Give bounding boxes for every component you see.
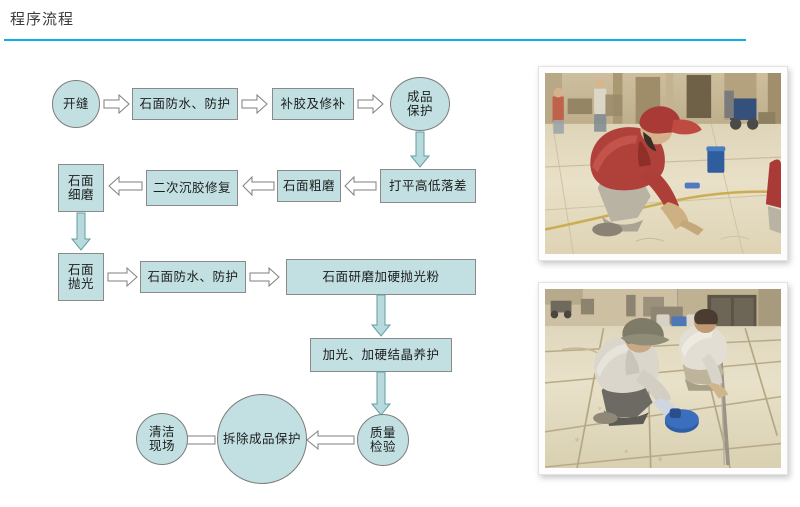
- flow-node-label: 石面防水、防护: [139, 97, 230, 111]
- flow-arrow-right-1: [104, 94, 130, 114]
- flow-node-label: 成品 保护: [407, 90, 433, 118]
- flow-arrow-left-2: [242, 176, 274, 196]
- flow-node-label: 清洁 现场: [149, 425, 175, 453]
- flow-arrow-left-1: [344, 176, 376, 196]
- flow-node-crystallization-curing[interactable]: 加光、加硬结晶养护: [310, 338, 452, 372]
- flow-arrow-down-1: [410, 132, 430, 168]
- flow-node-label: 石面 抛光: [68, 263, 94, 291]
- photo-bottom-image: [545, 289, 781, 468]
- flow-node-label: 加光、加硬结晶养护: [322, 348, 439, 362]
- flow-node-label: 二次沉胶修复: [153, 181, 231, 195]
- flow-node-stone-waterproof-1[interactable]: 石面防水、防护: [132, 88, 238, 120]
- flow-node-coarse-grind[interactable]: 石面粗磨: [277, 170, 341, 202]
- flow-node-finished-protection[interactable]: 成品 保护: [390, 77, 450, 131]
- flow-node-label: 拆除成品保护: [223, 432, 301, 446]
- flow-arrow-right-2: [242, 94, 268, 114]
- flow-node-secondary-glue-repair[interactable]: 二次沉胶修复: [146, 170, 238, 206]
- flow-node-label: 石面研磨加硬抛光粉: [322, 270, 439, 284]
- process-flow-diagram: 开缝 石面防水、防护 补胶及修补 成品 保护 打平高低落差: [0, 46, 520, 507]
- flow-arrow-down-2: [71, 213, 91, 251]
- flow-node-fine-grind[interactable]: 石面 细磨: [58, 164, 104, 212]
- flow-node-label: 质量 检验: [370, 426, 396, 454]
- title-underline-rule: [4, 39, 746, 41]
- photo-top: [545, 73, 781, 254]
- flow-node-label: 石面 细磨: [68, 174, 94, 202]
- flow-node-label: 开缝: [63, 97, 89, 111]
- flow-arrow-right-4: [108, 267, 138, 287]
- page-title: 程序流程: [10, 8, 74, 29]
- flow-node-label: 打平高低落差: [389, 179, 467, 193]
- flow-arrow-right-5: [250, 267, 280, 287]
- flow-node-polish[interactable]: 石面 抛光: [58, 253, 104, 301]
- flow-arrow-down-3: [371, 295, 391, 337]
- photo-frame-top[interactable]: [538, 66, 788, 261]
- flow-node-label: 石面粗磨: [283, 179, 335, 193]
- flow-node-label: 补胶及修补: [280, 97, 345, 111]
- flow-node-stone-waterproof-2[interactable]: 石面防水、防护: [140, 261, 246, 293]
- flow-arrow-down-4: [371, 372, 391, 416]
- flow-node-clean-site[interactable]: 清洁 现场: [136, 413, 188, 465]
- photo-bottom: [545, 289, 781, 468]
- flow-arrow-left-4: [306, 430, 354, 450]
- photo-top-image: [545, 73, 781, 254]
- flow-node-level-height-difference[interactable]: 打平高低落差: [380, 169, 476, 203]
- flow-node-glue-repair[interactable]: 补胶及修补: [272, 88, 354, 120]
- flow-node-quality-inspection[interactable]: 质量 检验: [357, 414, 409, 466]
- flow-node-label: 石面防水、防护: [147, 270, 238, 284]
- photo-frame-bottom[interactable]: [538, 282, 788, 475]
- flow-node-kaifeng[interactable]: 开缝: [52, 80, 100, 128]
- flow-node-remove-protection[interactable]: 拆除成品保护: [217, 394, 307, 484]
- flow-node-hard-polish-powder[interactable]: 石面研磨加硬抛光粉: [286, 259, 476, 295]
- flow-arrow-right-3: [358, 94, 384, 114]
- flow-arrow-left-3: [108, 176, 142, 196]
- page-header: 程序流程: [0, 0, 800, 46]
